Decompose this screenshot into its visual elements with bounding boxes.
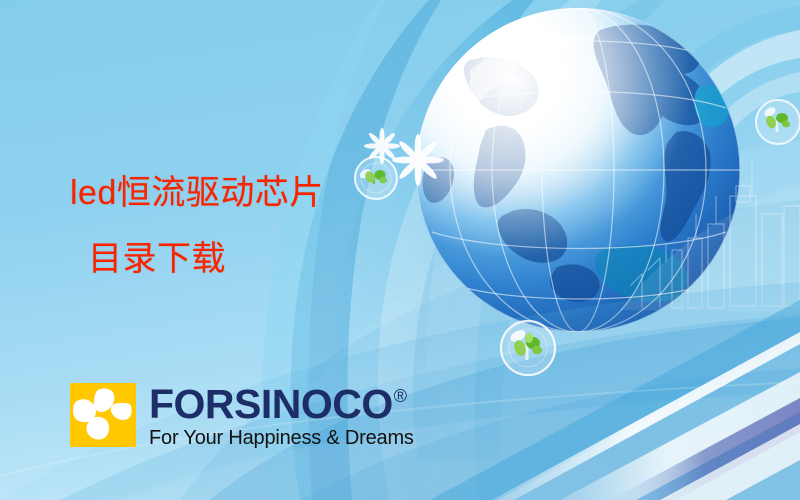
four-petal-pinwheel-icon <box>70 383 136 447</box>
brand-logo[interactable]: FORSINOCO ® For Your Happiness & Dreams <box>70 383 414 448</box>
headline-line-1: led恒流驱动芯片 <box>70 174 324 212</box>
brand-name: FORSINOCO <box>149 385 393 424</box>
headline-text: led恒流驱动芯片 目录下载 <box>70 160 324 292</box>
registered-trademark-icon: ® <box>394 387 407 405</box>
bubble-sprout-center <box>501 321 555 375</box>
bubble-sprout-left <box>355 157 397 199</box>
flower-burst-large <box>392 134 444 186</box>
brand-lockup: FORSINOCO ® For Your Happiness & Dreams <box>149 385 414 448</box>
headline-line-2: 目录下载 <box>70 226 324 292</box>
brand-name-row: FORSINOCO ® <box>149 385 414 424</box>
brand-tagline: For Your Happiness & Dreams <box>149 428 414 448</box>
bubble-sprout-right <box>756 100 800 144</box>
banner-canvas: led恒流驱动芯片 目录下载 FORSINOCO ® For Your Happ… <box>0 0 800 500</box>
